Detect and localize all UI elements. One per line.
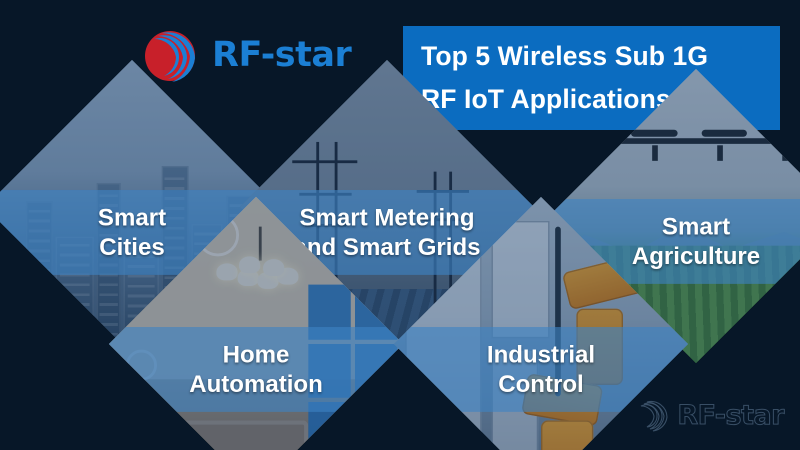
diamond-label: Smart Agriculture	[632, 211, 760, 270]
watermark-text: RF-star	[677, 400, 784, 431]
brand-logo: RF-star	[142, 24, 357, 86]
diamond-label-band: Home Automation	[109, 326, 403, 411]
rf-star-globe-outline-icon	[636, 399, 670, 432]
poster-canvas: RF-star Top 5 Wireless Sub 1G RF IoT App…	[0, 0, 800, 450]
brand-name: RF-star	[212, 35, 351, 75]
diamond-label: Smart Cities	[98, 202, 166, 261]
watermark: RF-star	[636, 399, 784, 432]
diamond-label: Home Automation	[189, 339, 323, 398]
diamond-label: Industrial Control	[487, 339, 595, 398]
diamond-label: Smart Metering and Smart Grids	[293, 202, 480, 261]
title-line-1: Top 5 Wireless Sub 1G	[421, 35, 764, 78]
rf-star-globe-icon	[142, 25, 204, 85]
